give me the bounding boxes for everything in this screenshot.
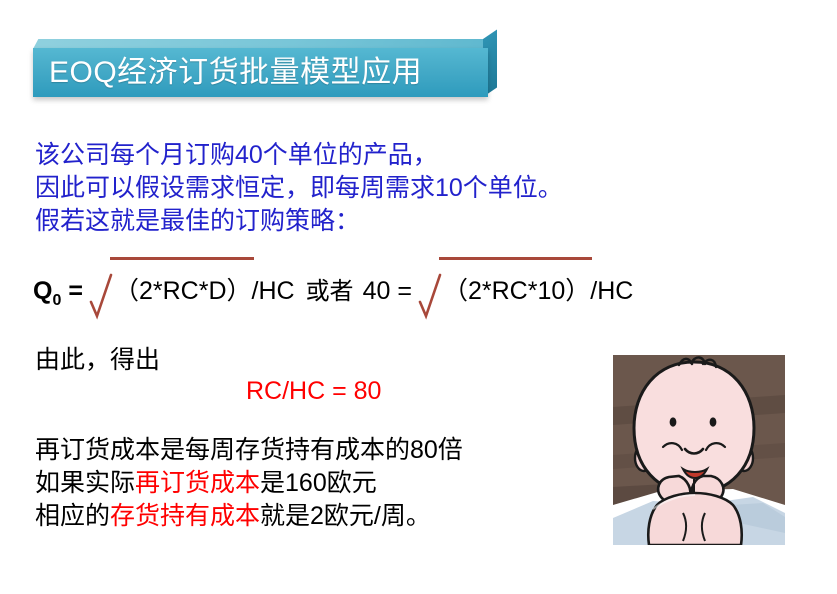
conclusion-seg-highlight: 存货持有成本 (110, 502, 260, 530)
conclusion-seg-highlight: 再订货成本 (135, 469, 260, 497)
conclusion-seg: 如果实际 (35, 469, 135, 497)
intro-line-3: 假若这就是最佳的订购策略： (35, 205, 635, 238)
formula-connector: 或者 (295, 271, 363, 306)
formula-tail-2: /HC (590, 277, 633, 306)
conclusion-seg: 再订货成本是每周存货持有成本的80倍 (35, 436, 463, 464)
radicand-2: （2*RC*10） (443, 271, 590, 307)
square-root-icon (419, 276, 445, 316)
derive-label: 由此，得出 (35, 340, 160, 376)
intro-line-2: 因此可以假设需求恒定，即每周需求10个单位。 (35, 172, 635, 205)
slide-canvas: EOQ经济订货批量模型应用 该公司每个月订购40个单位的产品， 因此可以假设需求… (0, 0, 837, 594)
conclusion-line-1: 再订货成本是每周存货持有成本的80倍 (35, 434, 595, 467)
eoq-formula: Q0 = （2*RC*D） /HC 或者 40 = （2*RC*10） /HC (33, 269, 633, 313)
radical-expression-2: （2*RC*10） (419, 269, 590, 307)
conclusion-line-3: 相应的存货持有成本就是2欧元/周。 (35, 500, 595, 533)
conclusion-line-2: 如果实际再订货成本是160欧元 (35, 467, 595, 500)
baby-illustration-image (613, 355, 785, 545)
formula-rhs-value: 40 (363, 277, 391, 306)
square-root-icon (90, 276, 116, 316)
result-equation: RC/HC = 80 (246, 377, 381, 406)
formula-equals-2: = (390, 277, 419, 306)
formula-q0-symbol: Q0 (33, 277, 61, 310)
page-title: EOQ经济订货批量模型应用 (33, 58, 422, 88)
radical-vinculum-2 (439, 257, 592, 260)
radicand-1: （2*RC*D） (114, 271, 252, 307)
slide-title-banner: EOQ经济订货批量模型应用 (33, 39, 488, 97)
formula-equals-1: = (61, 277, 90, 306)
conclusion-seg: 是160欧元 (260, 469, 377, 497)
intro-paragraph: 该公司每个月订购40个单位的产品， 因此可以假设需求恒定，即每周需求10个单位。… (35, 139, 635, 238)
radical-expression-1: （2*RC*D） (90, 269, 252, 307)
conclusion-seg: 相应的 (35, 502, 110, 530)
radical-vinculum-1 (110, 257, 254, 260)
conclusion-seg: 就是2欧元/周。 (260, 502, 431, 530)
conclusion-paragraph: 再订货成本是每周存货持有成本的80倍 如果实际再订货成本是160欧元 相应的存货… (35, 434, 595, 533)
formula-tail-1: /HC (252, 277, 295, 306)
intro-line-1: 该公司每个月订购40个单位的产品， (35, 139, 635, 172)
baby-cartoon-icon (613, 355, 785, 545)
banner-front-face: EOQ经济订货批量模型应用 (33, 48, 488, 97)
